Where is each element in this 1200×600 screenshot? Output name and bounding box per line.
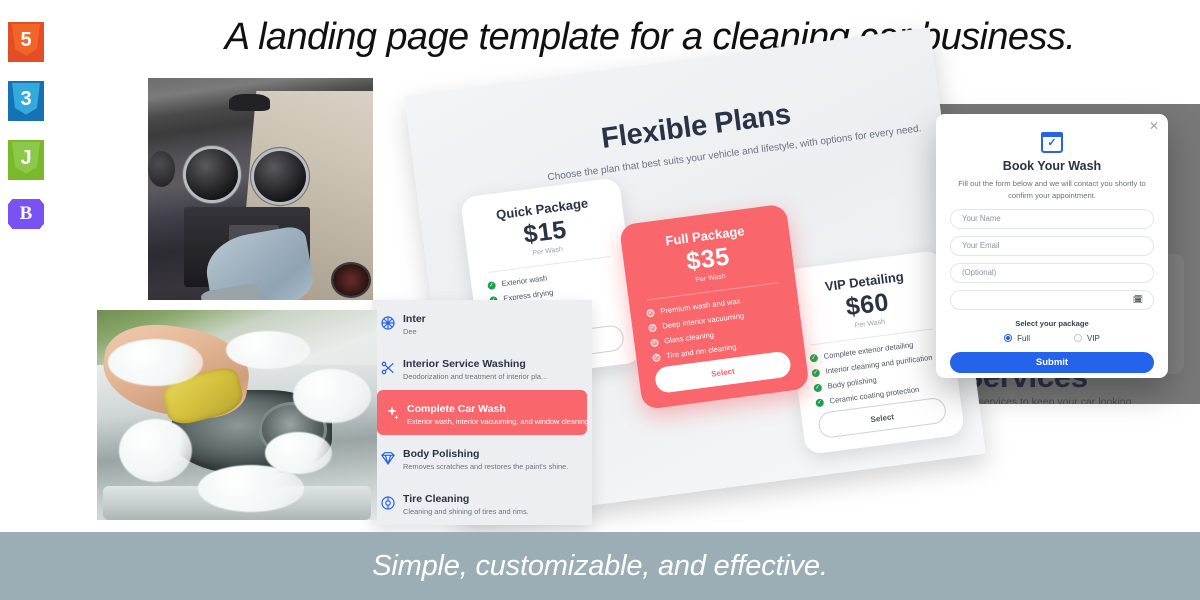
footer-banner: Simple, customizable, and effective.	[0, 532, 1200, 600]
service-title: Complete Car Wash	[407, 403, 506, 415]
calendar-icon[interactable]: 🗓	[1133, 295, 1143, 304]
radio-label: VIP	[1087, 334, 1100, 343]
promo-banner-image: A landing page template for a cleaning c…	[0, 0, 1200, 600]
check-dot-icon: ✓	[813, 383, 822, 392]
radio-button-icon[interactable]	[1004, 334, 1012, 342]
booking-modal: ✕ ✓ Book Your Wash Fill out the form bel…	[936, 114, 1168, 378]
close-icon[interactable]: ✕	[1149, 120, 1159, 132]
snowflake-icon	[380, 315, 396, 331]
service-desc: Deodorization and treatment of interior …	[403, 372, 547, 381]
submit-button[interactable]: Submit	[950, 352, 1154, 373]
service-item-complete-car-wash[interactable]: Complete Car Wash Exterior wash, interio…	[377, 390, 587, 435]
date-field[interactable]: 🗓	[950, 290, 1154, 310]
service-title: Inter	[403, 313, 426, 325]
modal-title: Book Your Wash	[950, 159, 1154, 173]
radio-vip[interactable]: VIP	[1074, 334, 1100, 343]
calendar-check-icon: ✓	[1041, 132, 1063, 153]
bootstrap-logo: B	[8, 199, 44, 229]
plan-card-full[interactable]: Full Package $35 Per Wash ✓Premium wash …	[619, 204, 810, 410]
services-list-panel: Inter Dee Interior Service Washing Deodo…	[372, 300, 592, 525]
check-dot-icon: ✓	[815, 398, 824, 407]
check-dot-icon: ✓	[648, 323, 657, 332]
modal-subtitle: Fill out the form below and we will cont…	[950, 178, 1154, 202]
service-desc: Removes scratches and restores the paint…	[403, 462, 568, 471]
sparkles-icon	[384, 405, 400, 421]
service-item-interior[interactable]: Inter Dee	[372, 300, 592, 345]
tech-stack-logo-rail: 5 3 J B	[8, 22, 52, 229]
radio-label: Full	[1017, 334, 1030, 343]
tire-icon	[380, 495, 396, 511]
radio-full[interactable]: Full	[1004, 334, 1030, 343]
service-item-body-polishing[interactable]: Body Polishing Removes scratches and res…	[372, 435, 592, 480]
page-title: A landing page template for a cleaning c…	[150, 16, 1150, 59]
footer-banner-text: Simple, customizable, and effective.	[372, 550, 827, 583]
service-title: Tire Cleaning	[403, 493, 469, 505]
service-item-tire-cleaning[interactable]: Tire Cleaning Cleaning and shining of ti…	[372, 480, 592, 525]
css3-logo: 3	[8, 81, 44, 121]
service-desc: Cleaning and shining of tires and rims.	[403, 507, 529, 516]
service-title: Body Polishing	[403, 448, 479, 460]
service-item-interior-service-washing[interactable]: Interior Service Washing Deodorization a…	[372, 345, 592, 390]
gem-icon	[380, 450, 396, 466]
car-headlight-washing-photo	[97, 310, 377, 520]
package-radio-group: Full VIP	[950, 334, 1154, 343]
car-dashboard-cleaning-photo	[148, 78, 373, 300]
check-dot-icon: ✓	[652, 353, 661, 362]
phone-field-placeholder: (Optional)	[962, 268, 996, 277]
service-title: Interior Service Washing	[403, 358, 526, 370]
html5-logo: 5	[8, 22, 44, 62]
package-label: Select your package	[950, 319, 1154, 328]
check-dot-icon: ✓	[811, 368, 820, 377]
email-field[interactable]: Your Email	[950, 236, 1154, 256]
scissors-icon	[380, 360, 396, 376]
check-dot-icon: ✓	[646, 308, 655, 317]
plan-feature-list: ✓Premium wash and wax ✓Deep interior vac…	[646, 291, 788, 362]
radio-button-icon[interactable]	[1074, 334, 1082, 342]
service-desc: Dee	[403, 327, 426, 336]
phone-field[interactable]: (Optional)	[950, 263, 1154, 283]
name-field-placeholder: Your Name	[962, 214, 1001, 223]
plan-feature-list: ✓Complete exterior detailing ✓Interior c…	[809, 337, 943, 407]
check-dot-icon: ✓	[809, 353, 818, 362]
javascript-logo: J	[8, 140, 44, 180]
service-desc: Exterior wash, interior vacuuming, and w…	[407, 417, 580, 426]
email-field-placeholder: Your Email	[962, 241, 999, 250]
name-field[interactable]: Your Name	[950, 209, 1154, 229]
check-dot-icon: ✓	[650, 338, 659, 347]
check-dot-icon: ✓	[487, 281, 496, 290]
